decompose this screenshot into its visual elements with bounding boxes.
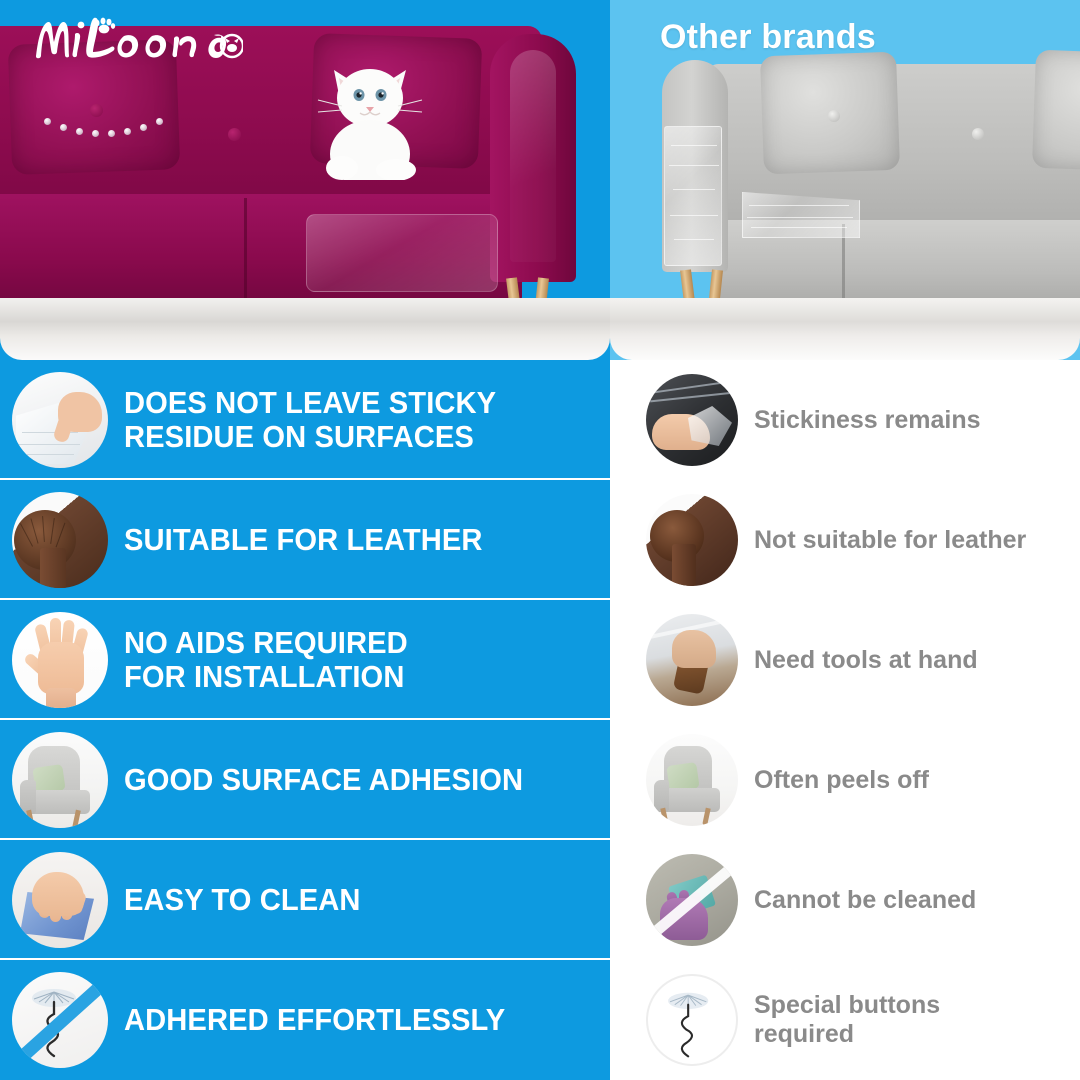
twist-pin-icon xyxy=(646,974,738,1066)
pro-label: EASY TO CLEAN xyxy=(124,883,361,917)
open-hand-icon xyxy=(12,612,108,708)
cleaning-cloth-icon xyxy=(12,852,108,948)
pro-label: ADHERED EFFORTLESSLY xyxy=(124,1003,505,1037)
leather-sofa-icon xyxy=(12,492,108,588)
con-label: Cannot be cleaned xyxy=(754,886,976,915)
floor-strip-right xyxy=(610,298,1080,360)
pro-label: SUITABLE FOR LEATHER xyxy=(124,523,483,557)
hero-section: Other brands xyxy=(0,0,1080,360)
pro-row: NO AIDS REQUIRED FOR INSTALLATION xyxy=(0,600,610,720)
armchair-icon xyxy=(12,732,108,828)
con-row: Stickiness remains xyxy=(628,360,1080,480)
sticky-hand-icon xyxy=(646,374,738,466)
cons-column: Stickiness remains Not suitable for leat… xyxy=(610,360,1080,1080)
con-row: Often peels off xyxy=(628,720,1080,840)
gray-sofa-image xyxy=(656,58,1080,318)
hero-left-brand xyxy=(0,0,610,360)
con-row: Special buttons required xyxy=(628,960,1080,1080)
con-row: Not suitable for leather xyxy=(628,480,1080,600)
twist-pin-crossed-icon xyxy=(12,972,108,1068)
floor-strip-left xyxy=(0,298,610,360)
paw-print-icon xyxy=(95,18,116,34)
pro-row: GOOD SURFACE ADHESION xyxy=(0,720,610,840)
pro-row: DOES NOT LEAVE STICKY RESIDUE ON SURFACE… xyxy=(0,360,610,480)
pro-row: ADHERED EFFORTLESSLY xyxy=(0,960,610,1080)
leather-sofa-icon xyxy=(646,494,738,586)
white-cat-image xyxy=(312,50,430,180)
protector-film-patch xyxy=(306,214,498,292)
pro-label: DOES NOT LEAVE STICKY RESIDUE ON SURFACE… xyxy=(124,386,496,454)
con-label: Not suitable for leather xyxy=(754,526,1026,555)
pro-row: EASY TO CLEAN xyxy=(0,840,610,960)
glove-sponge-crossed-icon xyxy=(646,854,738,946)
comparison-table: DOES NOT LEAVE STICKY RESIDUE ON SURFACE… xyxy=(0,360,1080,1080)
con-label: Often peels off xyxy=(754,766,929,795)
con-label: Stickiness remains xyxy=(754,406,981,435)
con-label: Need tools at hand xyxy=(754,646,978,675)
pro-label: GOOD SURFACE ADHESION xyxy=(124,763,523,797)
wrinkled-film-patch-arm xyxy=(664,126,722,266)
pros-column: DOES NOT LEAVE STICKY RESIDUE ON SURFACE… xyxy=(0,360,610,1080)
hero-right-other-brands: Other brands xyxy=(610,0,1080,360)
miloona-logo xyxy=(28,8,243,70)
other-brands-title: Other brands xyxy=(660,18,876,57)
pro-row: SUITABLE FOR LEATHER xyxy=(0,480,610,600)
armchair-peeling-icon xyxy=(646,734,738,826)
con-row: Cannot be cleaned xyxy=(628,840,1080,960)
pro-label: NO AIDS REQUIRED FOR INSTALLATION xyxy=(124,626,408,694)
con-row: Need tools at hand xyxy=(628,600,1080,720)
con-label: Special buttons required xyxy=(754,991,940,1049)
product-comparison-infographic: Other brands xyxy=(0,0,1080,1080)
tool-in-hand-icon xyxy=(646,614,738,706)
peeling-film-icon xyxy=(12,372,108,468)
